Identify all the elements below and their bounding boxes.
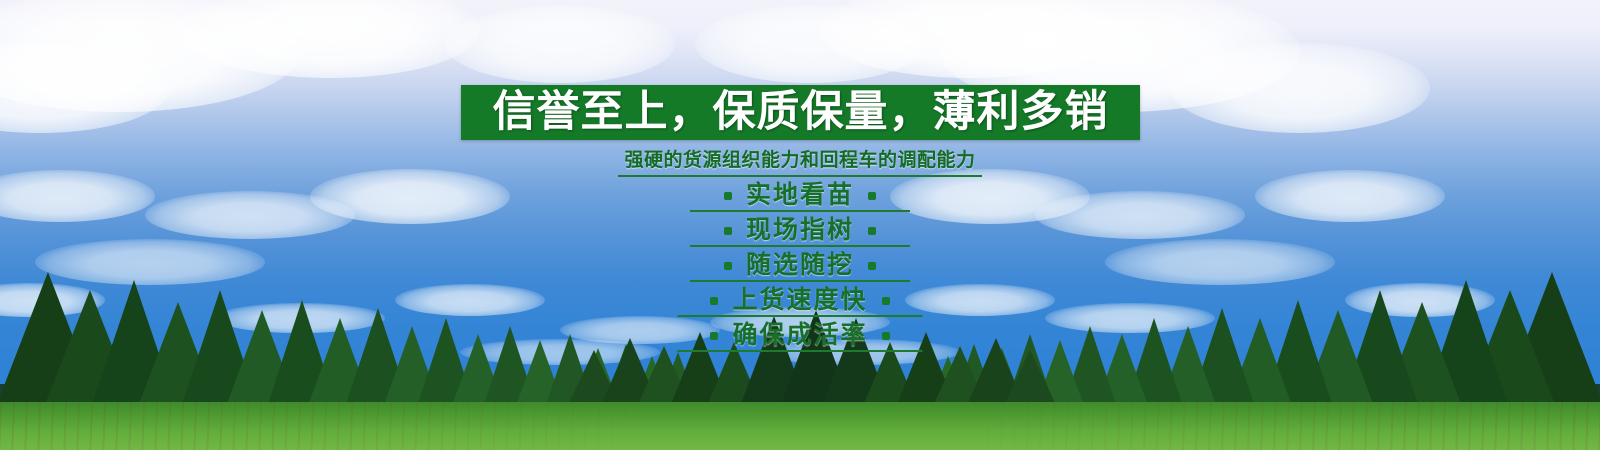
feature-text: 实地看苗 — [746, 183, 854, 208]
feature-row: 现场指树 — [0, 213, 1600, 248]
bullet-dot-left — [710, 332, 718, 340]
feature-row: 上货速度快 — [0, 283, 1600, 318]
bullet-dot-left — [710, 297, 718, 305]
feature-row: 实地看苗 — [0, 178, 1600, 213]
feature-text: 现场指树 — [746, 218, 854, 243]
feature-list: 实地看苗现场指树随选随挖上货速度快确保成活率 — [0, 178, 1600, 353]
bullet-dot-right — [868, 192, 876, 200]
feature-text: 上货速度快 — [732, 288, 867, 313]
feature-rule — [690, 210, 910, 212]
bullet-dot-right — [882, 297, 890, 305]
subtitle-text: 强硬的货源组织能力和回程车的调配能力 — [618, 145, 981, 177]
banner-content: 信誉至上，保质保量，薄利多销 强硬的货源组织能力和回程车的调配能力 实地看苗现场… — [0, 0, 1600, 450]
headline-text: 信誉至上，保质保量，薄利多销 — [493, 91, 1109, 134]
feature-rule — [678, 315, 923, 317]
promotional-banner: 信誉至上，保质保量，薄利多销 强硬的货源组织能力和回程车的调配能力 实地看苗现场… — [0, 0, 1600, 450]
bullet-dot-right — [868, 262, 876, 270]
subtitle: 强硬的货源组织能力和回程车的调配能力 — [0, 145, 1600, 177]
bullet-dot-left — [724, 192, 732, 200]
feature-rule — [690, 280, 910, 282]
bullet-dot-right — [868, 227, 876, 235]
feature-row: 随选随挖 — [0, 248, 1600, 283]
bullet-dot-left — [724, 262, 732, 270]
bullet-dot-right — [882, 332, 890, 340]
bullet-dot-left — [724, 227, 732, 235]
feature-rule — [690, 245, 910, 247]
feature-rule — [678, 350, 923, 352]
headline-bar: 信誉至上，保质保量，薄利多销 — [461, 85, 1140, 140]
feature-text: 随选随挖 — [746, 253, 854, 278]
feature-text: 确保成活率 — [732, 323, 867, 348]
feature-row: 确保成活率 — [0, 318, 1600, 353]
